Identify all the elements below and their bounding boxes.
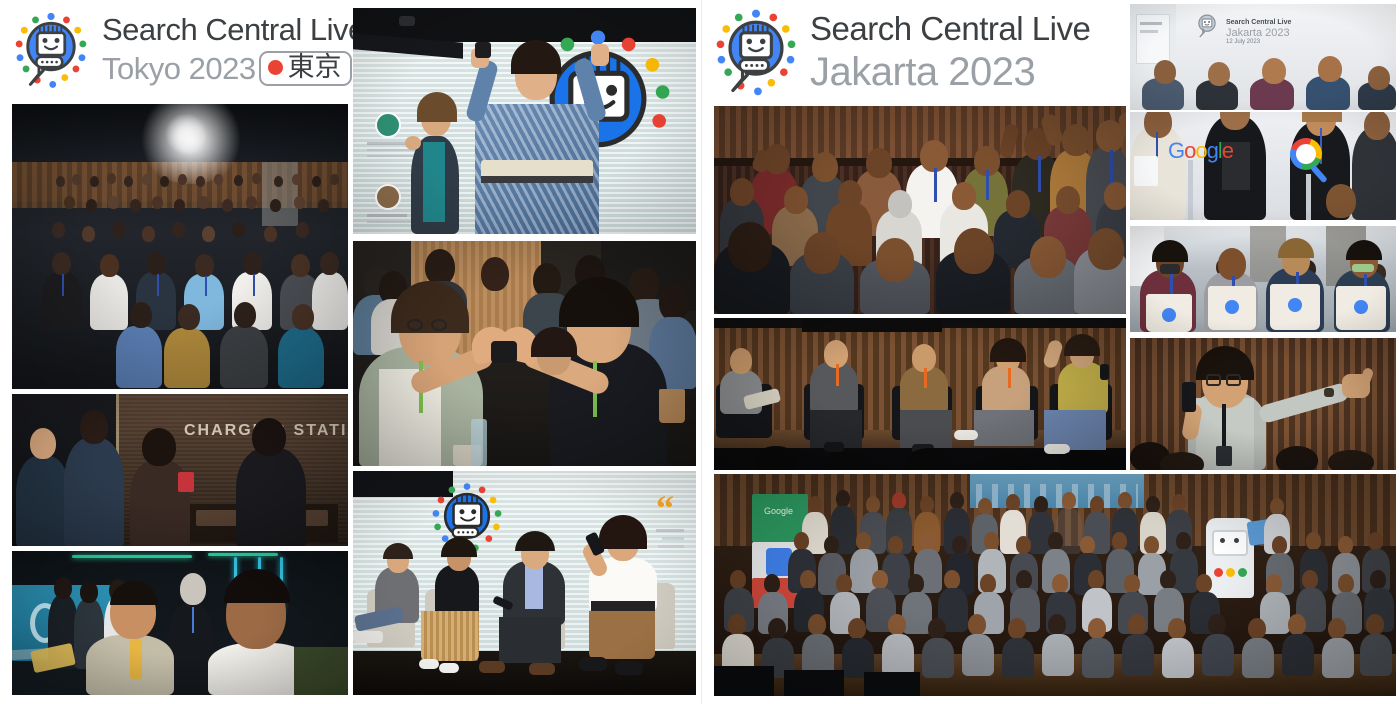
google-letters-prop: Google [1168, 138, 1233, 164]
photo-jakarta-google-letters: Google [1130, 112, 1396, 220]
photo-tokyo-reception-drinks [12, 551, 348, 695]
photo-jakarta-mega-group: Google [714, 474, 1396, 696]
photo-jakarta-audience-waving [714, 106, 1126, 314]
tokyo-kanji-label: 東京 [288, 54, 342, 81]
quote-mark-icon: “ [656, 487, 674, 529]
backdrop-city-line: Jakarta 2023 [1226, 27, 1322, 40]
googlebot-mascot-icon [8, 7, 94, 93]
tokyo-city-badge: 東京 [259, 51, 352, 86]
tokyo-city-row: Tokyo 2023 東京 [102, 51, 365, 86]
tokyo-event-header: Search Central Live Tokyo 2023 東京 [8, 4, 365, 96]
jakarta-event-header: Search Central Live Jakarta 2023 [708, 2, 1090, 102]
tokyo-brand-line: Search Central Live [102, 14, 365, 45]
collage-page: Search Central Live Tokyo 2023 東京 [0, 0, 1400, 704]
tokyo-header-text: Search Central Live Tokyo 2023 東京 [102, 14, 365, 86]
backdrop-date-line: 12 July 2023 [1226, 39, 1322, 47]
photo-tokyo-heart-hands [353, 241, 696, 466]
photo-tokyo-panel-stage: “ [353, 471, 696, 695]
jakarta-section: Search Central Live Jakarta 2023 Search … [704, 0, 1400, 704]
jakarta-mega-crowd [714, 474, 1396, 696]
section-divider [701, 0, 702, 704]
googlebot-mascot-icon [708, 4, 804, 100]
jakarta-backdrop-sign: Search Central Live Jakarta 2023 12 July… [1220, 10, 1328, 56]
tokyo-city-line: Tokyo 2023 [102, 53, 256, 84]
photo-tokyo-yukata-stage [353, 8, 696, 234]
photo-tokyo-charging-station: CHARGING STATION [12, 394, 348, 546]
jakarta-brand-line: Search Central Live [810, 12, 1090, 45]
jakarta-audience-crowd [714, 106, 1126, 314]
japan-flag-dot-icon [268, 60, 283, 75]
photo-jakarta-question-mic [1130, 338, 1396, 470]
photo-jakarta-tote-bags [1130, 226, 1396, 332]
photo-jakarta-panel-stage [714, 318, 1126, 470]
jakarta-city-row: Jakarta 2023 [810, 52, 1090, 92]
backdrop-brand-line: Search Central Live [1226, 19, 1322, 27]
photo-jakarta-backdrop-photo: Search Central Live Jakarta 2023 12 July… [1130, 4, 1396, 110]
jakarta-city-line: Jakarta 2023 [810, 52, 1035, 92]
jakarta-header-text: Search Central Live Jakarta 2023 [810, 12, 1090, 92]
photo-tokyo-group-audience [12, 104, 348, 389]
googlebot-mascot-icon [1192, 10, 1222, 40]
tokyo-section: Search Central Live Tokyo 2023 東京 [0, 0, 700, 704]
search-magnifier-prop [1290, 138, 1322, 170]
tokyo-audience-crowd [12, 104, 348, 389]
